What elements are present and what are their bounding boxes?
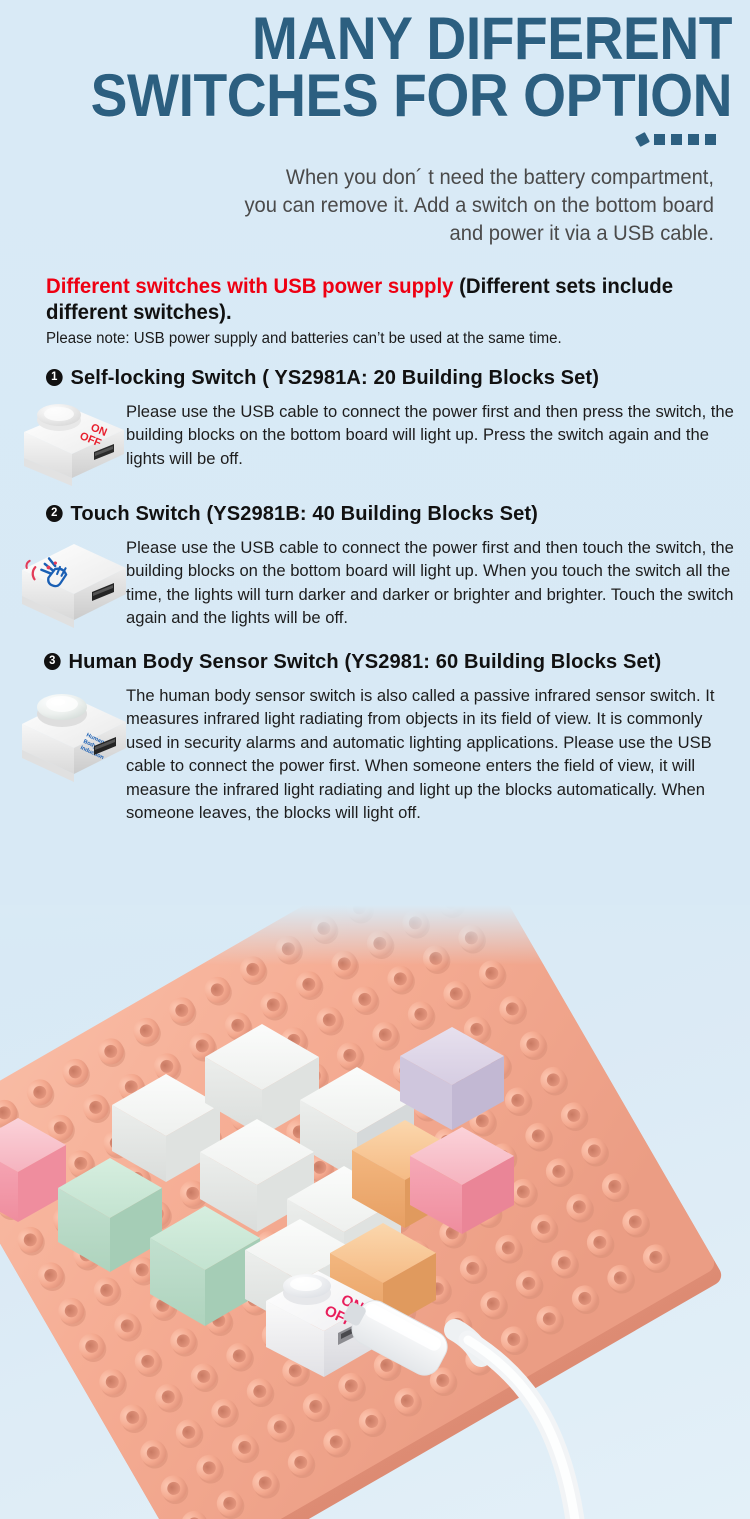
infographic-page: MANY DIFFERENT SWITCHES FOR OPTION When … <box>0 0 750 1519</box>
item-body: Please use the USB cable to connect the … <box>46 532 740 636</box>
item-number-badge: 2 <box>46 505 63 522</box>
product-photo: ON OFF <box>0 905 750 1519</box>
decorative-squares <box>18 132 716 146</box>
photo-top-fade <box>0 905 750 965</box>
item-heading-row: 2 Touch Switch (YS2981B: 40 Building Blo… <box>46 502 726 526</box>
item-heading-row: 1 Self-locking Switch ( YS2981A: 20 Buil… <box>46 366 726 390</box>
self-locking-switch-photo: ON OFF <box>8 396 126 488</box>
item-heading-row: 3 Human Body Sensor Switch (YS2981: 60 B… <box>44 650 726 674</box>
switch-item-human-body-sensor: 3 Human Body Sensor Switch (YS2981: 60 B… <box>46 650 740 825</box>
human-body-sensor-switch-photo: Human Body Induction <box>8 680 126 790</box>
self-locking-switch-illustration: ON OFF <box>18 400 130 488</box>
callout-headline: Different switches with USB power supply… <box>46 274 713 326</box>
pir-sensor-switch-illustration: Human Body Induction <box>18 684 130 790</box>
item-description: Please use the USB cable to connect the … <box>126 396 740 471</box>
square-dot-icon <box>688 134 699 145</box>
subtitle-line-1: When you don´ t need the battery compart… <box>46 164 714 192</box>
subtitle: When you don´ t need the battery compart… <box>46 164 714 248</box>
square-dot-icon <box>671 134 682 145</box>
switch-item-touch: 2 Touch Switch (YS2981B: 40 Building Blo… <box>46 502 740 636</box>
item-body: ON OFF Please use the USB cable to conne… <box>46 396 740 488</box>
square-dot-icon <box>705 134 716 145</box>
item-heading: Self-locking Switch ( YS2981A: 20 Buildi… <box>71 366 600 390</box>
callout-note: Please note: USB power supply and batter… <box>46 329 713 349</box>
item-description: Please use the USB cable to connect the … <box>126 532 740 630</box>
subtitle-line-2: you can remove it. Add a switch on the b… <box>46 192 714 220</box>
callout-block: Different switches with USB power supply… <box>46 274 734 349</box>
title-line-2: SWITCHES FOR OPTION <box>75 67 732 124</box>
item-number-badge: 1 <box>46 369 63 386</box>
touch-switch-photo <box>8 532 126 636</box>
item-heading: Touch Switch (YS2981B: 40 Building Block… <box>71 502 538 526</box>
item-number-badge: 3 <box>44 653 61 670</box>
item-description: The human body sensor switch is also cal… <box>126 680 740 825</box>
callout-red-text: Different switches with USB power supply <box>46 275 453 298</box>
switch-item-self-locking: 1 Self-locking Switch ( YS2981A: 20 Buil… <box>46 366 740 488</box>
item-heading: Human Body Sensor Switch (YS2981: 60 Bui… <box>69 650 662 674</box>
subtitle-line-3: and power it via a USB cable. <box>46 220 714 248</box>
photo-scene: ON OFF <box>0 905 750 1519</box>
page-title: MANY DIFFERENT SWITCHES FOR OPTION <box>75 10 732 124</box>
touch-switch-illustration <box>18 536 130 636</box>
header: MANY DIFFERENT SWITCHES FOR OPTION When … <box>0 0 750 248</box>
square-dot-icon <box>635 132 650 147</box>
item-body: Human Body Induction The human body sens… <box>46 680 740 825</box>
square-dot-icon <box>654 134 665 145</box>
